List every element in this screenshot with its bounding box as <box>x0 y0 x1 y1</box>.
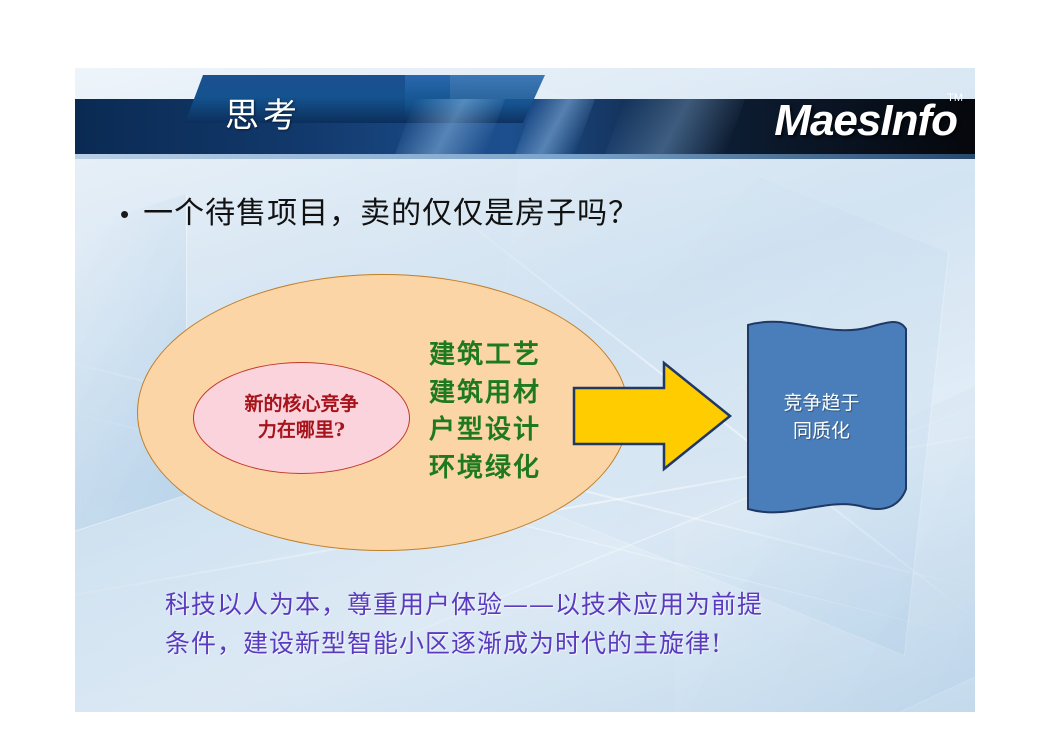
inner-ellipse-line-1: 新的核心竞争 <box>244 392 358 418</box>
flag-label: 竞争趋于 同质化 <box>759 390 884 445</box>
bullet-text: 一个待售项目，卖的仅仅是房子吗？ <box>143 188 639 232</box>
footer-quote-line-1: 科技以人为本，尊重用户体验——以技术应用为前提 <box>165 586 905 625</box>
brand-logo: MaesInfo <box>774 96 957 146</box>
outer-ellipse-shape: 新的核心竞争 力在哪里? 建筑工艺 建筑用材 户型设计 环境绿化 <box>137 274 629 551</box>
feature-item-2: 建筑用材 <box>400 375 570 413</box>
footer-quote-line-2: 条件，建设新型智能小区逐渐成为时代的主旋律! <box>165 625 905 664</box>
trademark-mark: TM <box>947 92 963 104</box>
flag-line-1: 竞争趋于 <box>759 390 884 418</box>
inner-ellipse-line-2: 力在哪里? <box>258 418 345 444</box>
bullet-marker-icon: • <box>120 201 129 227</box>
feature-item-1: 建筑工艺 <box>400 337 570 375</box>
slide-canvas: 思考 MaesInfo TM • 一个待售项目，卖的仅仅是房子吗？ 新的核心竞争… <box>75 68 975 712</box>
bullet-row: • 一个待售项目，卖的仅仅是房子吗？ <box>120 188 639 232</box>
arrow-shape <box>572 360 732 472</box>
inner-ellipse-shape: 新的核心竞争 力在哪里? <box>193 362 410 474</box>
header-sheen-3 <box>605 99 745 154</box>
page-title: 思考 <box>225 88 301 137</box>
header-underline <box>75 154 975 159</box>
feature-list: 建筑工艺 建筑用材 户型设计 环境绿化 <box>400 337 570 488</box>
slide-header: 思考 MaesInfo TM <box>75 68 975 160</box>
footer-quote: 科技以人为本，尊重用户体验——以技术应用为前提 条件，建设新型智能小区逐渐成为时… <box>165 586 905 664</box>
flag-line-2: 同质化 <box>759 418 884 446</box>
arrow-icon <box>572 360 732 472</box>
feature-item-4: 环境绿化 <box>400 450 570 488</box>
feature-item-3: 户型设计 <box>400 412 570 450</box>
